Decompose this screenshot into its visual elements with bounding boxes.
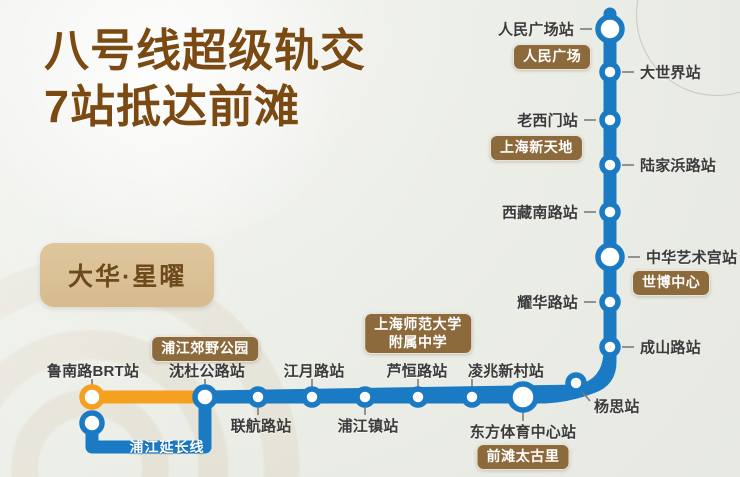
station-label-lianhang-lu[interactable]: 联航路站 — [231, 415, 292, 436]
station-label-dongfang-tiyu-zhongxin[interactable]: 东方体育中心站 — [470, 421, 576, 442]
station-label-yaohua-lu[interactable]: 耀华路站 — [517, 292, 578, 313]
metro-line-poster: 八号线超级轨交 7站抵达前滩 大华·星曜 .ln-blue { fill:non… — [0, 0, 740, 477]
station-dot-dashijie[interactable] — [602, 64, 618, 80]
station-label-yangsi[interactable]: 杨思站 — [594, 396, 640, 417]
station-dot-shendu-gonglu[interactable] — [195, 387, 215, 407]
station-dot-pujiang-zhen[interactable] — [357, 389, 373, 405]
poi-badge-dongfang-tiyu-zhongxin[interactable]: 前滩太古里 — [477, 444, 570, 470]
station-dot-luheng-lu[interactable] — [410, 389, 426, 405]
station-dot-yaohua-lu[interactable] — [602, 294, 618, 310]
headline-line-1: 八号线超级轨交 — [44, 26, 366, 76]
poi-badge-renmin-guangchang[interactable]: 人民广场 — [513, 44, 591, 70]
station-dot-lianhang-lu[interactable] — [250, 389, 266, 405]
poi-badge-luheng-lu-line-2: 附属中学 — [374, 334, 462, 352]
station-label-pujiang-zhen[interactable]: 浦江镇站 — [338, 415, 399, 436]
headline-line-2: 7站抵达前滩 — [44, 82, 366, 132]
station-dot-jiangyue-lu[interactable] — [304, 389, 320, 405]
station-label-chengshan-lu[interactable]: 成山路站 — [640, 337, 701, 358]
station-label-zhonghua-yishugong[interactable]: 中华艺术宫站 — [646, 247, 737, 268]
line-name-chip-pujiang-extension: 浦江延长线 — [130, 437, 205, 457]
station-dot-renmin-guangchang[interactable] — [598, 17, 622, 41]
station-label-luheng-lu[interactable]: 芦恒路站 — [387, 360, 448, 381]
station-dot-chengshan-lu[interactable] — [602, 339, 618, 355]
station-dot-laoximen[interactable] — [602, 112, 618, 128]
poi-badge-laoximen[interactable]: 上海新天地 — [490, 135, 583, 161]
poi-badge-shendu-gonglu[interactable]: 浦江郊野公园 — [151, 336, 259, 362]
station-dot-xizang-nan-lu[interactable] — [602, 204, 618, 220]
station-dot-yangsi[interactable] — [568, 375, 584, 391]
station-dot-lunan-lu-brt[interactable] — [82, 387, 102, 407]
station-label-jiangyue-lu[interactable]: 江月路站 — [284, 360, 345, 381]
station-label-renmin-guangchang[interactable]: 人民广场站 — [498, 19, 574, 40]
station-label-xizang-nan-lu[interactable]: 西藏南路站 — [502, 202, 578, 223]
poi-badge-luheng-lu[interactable]: 上海师范大学 附属中学 — [364, 313, 472, 354]
brand-name: 大华·星曜 — [68, 263, 186, 291]
poi-badge-zhonghua-yishugong[interactable]: 世博中心 — [632, 270, 710, 296]
station-dot-lujiabang-lu[interactable] — [602, 157, 618, 173]
station-label-lingzhao-xincun[interactable]: 凌兆新村站 — [468, 360, 544, 381]
poi-badge-luheng-lu-line-1: 上海师范大学 — [374, 316, 462, 334]
station-label-dashijie[interactable]: 大世界站 — [640, 62, 701, 83]
station-dot-extension-terminus[interactable] — [82, 413, 102, 433]
page-title: 八号线超级轨交 7站抵达前滩 — [44, 26, 366, 133]
station-label-laoximen[interactable]: 老西门站 — [517, 110, 578, 131]
brand-badge: 大华·星曜 — [40, 243, 214, 307]
station-label-shendu-gonglu[interactable]: 沈杜公路站 — [169, 360, 245, 381]
station-label-lunan-lu-brt[interactable]: 鲁南路BRT站 — [47, 360, 139, 381]
station-label-lujiabang-lu[interactable]: 陆家浜路站 — [640, 155, 716, 176]
station-dot-dongfang-tiyu-zhongxin[interactable] — [510, 384, 536, 410]
station-dot-lingzhao-xincun[interactable] — [464, 389, 480, 405]
station-dot-zhonghua-yishugong[interactable] — [598, 245, 622, 269]
